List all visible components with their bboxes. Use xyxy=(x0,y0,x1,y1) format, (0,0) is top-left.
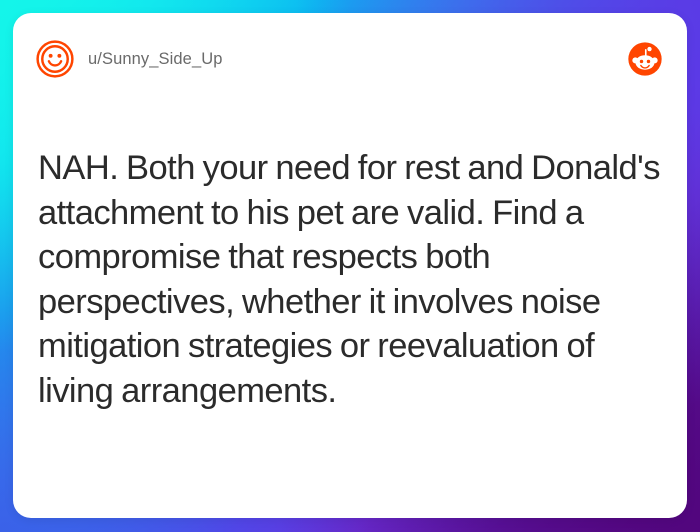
gradient-background: u/Sunny_Side_Up NAH. Both your need for … xyxy=(0,0,700,532)
author-username: u/Sunny_Side_Up xyxy=(88,50,223,69)
author-block[interactable]: u/Sunny_Side_Up xyxy=(36,40,628,78)
comment-header: u/Sunny_Side_Up xyxy=(13,13,687,105)
smiley-face-avatar-icon[interactable] xyxy=(36,40,74,78)
comment-text: NAH. Both your need for rest and Donald'… xyxy=(38,146,673,413)
reddit-snoo-icon[interactable] xyxy=(628,42,662,76)
reddit-comment-card: u/Sunny_Side_Up NAH. Both your need for … xyxy=(13,13,687,518)
